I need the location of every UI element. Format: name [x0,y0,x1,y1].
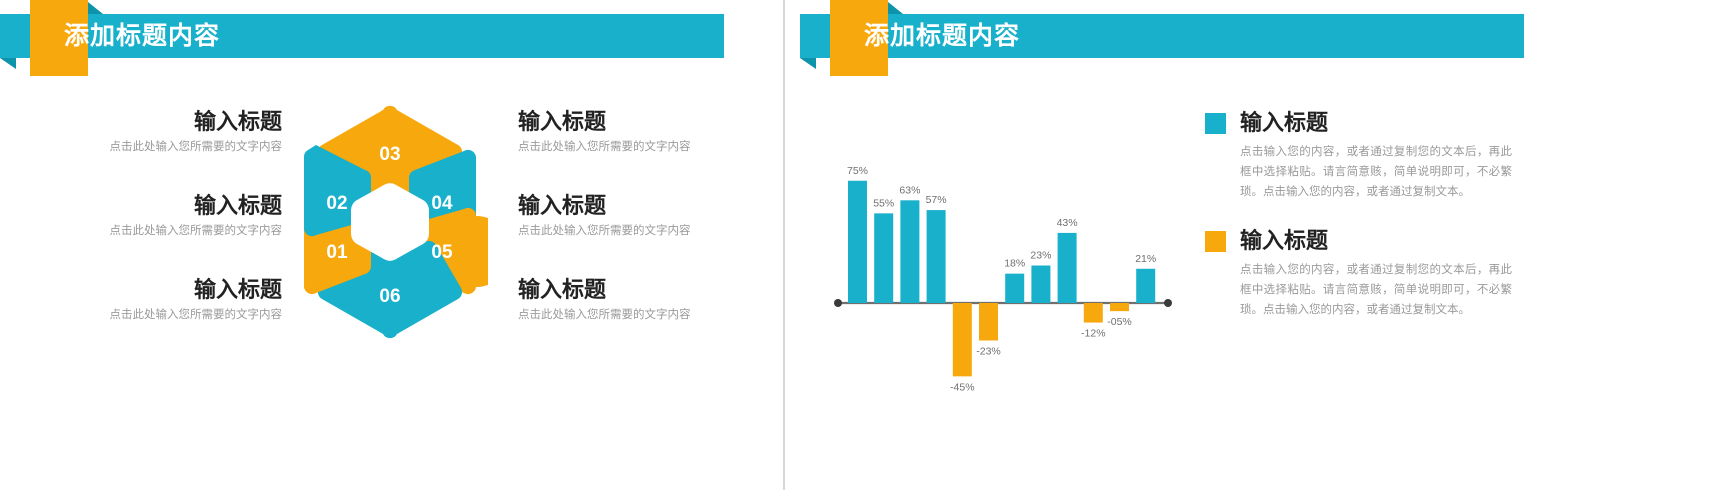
chart-bar-label: -12% [1081,328,1106,340]
chart-axis-dot-start [834,299,842,307]
legend-item-2[interactable]: 输入标题 点击输入您的内容，或者通过复制您的文本后，再此框中选择粘贴。请言简意赅… [1205,228,1545,320]
header-ribbon-left: 添加标题内容 [0,14,780,58]
chart-bar [979,303,998,340]
label-title: 输入标题 [52,192,282,220]
slide-divider [783,0,785,490]
chart-bar [874,213,893,303]
label-desc: 点击此处输入您所需要的文字内容 [518,139,748,156]
label-title: 输入标题 [518,192,748,220]
label-group-left-1[interactable]: 输入标题 点击此处输入您所需要的文字内容 [52,108,282,156]
header-ribbon-right: 添加标题内容 [800,14,1580,58]
label-group-left-3[interactable]: 输入标题 点击此处输入您所需要的文字内容 [52,276,282,324]
ribbon-fold-left-icon [800,58,816,69]
chart-bar-label: 55% [873,197,894,209]
legend-description: 点击输入您的内容，或者通过复制您的文本后，再此框中选择粘贴。请言简意赅，简单说明… [1240,142,1512,202]
chart-bar-label: 43% [1057,217,1078,229]
chart-bar-label: 75% [847,165,868,177]
slide-right: 添加标题内容 75%55%63%57%-45%-23%18%23%43%-12%… [800,0,1580,490]
bar-chart: 75%55%63%57%-45%-23%18%23%43%-12%-05%21% [820,88,1220,408]
chart-bar-label: -45% [950,381,975,393]
chart-bar [1005,274,1024,303]
hexagon-label-05: 05 [431,242,453,263]
ribbon-fold-right-icon [888,2,903,14]
chart-bar [927,210,946,303]
label-desc: 点击此处输入您所需要的文字内容 [52,139,282,156]
hexagon-diagram: 03 04 05 06 01 02 [292,104,488,340]
page-title: 添加标题内容 [864,14,1020,58]
label-group-left-2[interactable]: 输入标题 点击此处输入您所需要的文字内容 [52,192,282,240]
slide-deck: 添加标题内容 输入标题 点击此处输入您所需要的文字内容 输入标题 点击此处输入您… [0,0,1720,490]
label-title: 输入标题 [518,276,748,304]
label-group-right-3[interactable]: 输入标题 点击此处输入您所需要的文字内容 [518,276,748,324]
legend-item-1[interactable]: 输入标题 点击输入您的内容，或者通过复制您的文本后，再此框中选择粘贴。请言简意赅… [1205,110,1545,202]
label-title: 输入标题 [52,108,282,136]
chart-bar [953,303,972,376]
legend-description: 点击输入您的内容，或者通过复制您的文本后，再此框中选择粘贴。请言简意赅，简单说明… [1240,260,1512,320]
legend-title: 输入标题 [1240,110,1328,136]
chart-bar [900,200,919,303]
ribbon-fold-right-icon [88,2,103,14]
chart-bar [1031,266,1050,303]
legend-swatch-teal-icon [1205,113,1226,134]
hexagon-label-02: 02 [326,193,347,214]
chart-bar [848,181,867,303]
chart-bar [1110,303,1129,311]
chart-bar-label: 63% [899,184,920,196]
chart-bar-label: 21% [1135,253,1156,265]
label-desc: 点击此处输入您所需要的文字内容 [52,223,282,240]
legend-title: 输入标题 [1240,228,1328,254]
chart-bar-label: 57% [926,194,947,206]
chart-bar-label: -05% [1107,316,1132,328]
label-title: 输入标题 [518,108,748,136]
label-title: 输入标题 [52,276,282,304]
hexagon-label-03: 03 [379,144,400,165]
hexagon-label-06: 06 [379,286,400,307]
hexagon-label-04: 04 [431,193,453,214]
chart-bar [1084,303,1103,323]
chart-bar [1058,233,1077,303]
label-group-right-2[interactable]: 输入标题 点击此处输入您所需要的文字内容 [518,192,748,240]
chart-legend: 输入标题 点击输入您的内容，或者通过复制您的文本后，再此框中选择粘贴。请言简意赅… [1205,110,1545,346]
chart-axis-dot-end [1164,299,1172,307]
label-group-right-1[interactable]: 输入标题 点击此处输入您所需要的文字内容 [518,108,748,156]
slide-left: 添加标题内容 输入标题 点击此处输入您所需要的文字内容 输入标题 点击此处输入您… [0,0,780,490]
bar-chart-svg: 75%55%63%57%-45%-23%18%23%43%-12%-05%21% [820,88,1200,408]
label-desc: 点击此处输入您所需要的文字内容 [52,307,282,324]
chart-bar-label: 18% [1004,258,1025,270]
hexagon-label-01: 01 [326,242,348,263]
label-desc: 点击此处输入您所需要的文字内容 [518,223,748,240]
label-desc: 点击此处输入您所需要的文字内容 [518,307,748,324]
chart-bar [1136,269,1155,303]
ribbon-fold-left-icon [0,58,16,69]
chart-bar-label: -23% [976,345,1001,357]
legend-swatch-orange-icon [1205,231,1226,252]
page-title: 添加标题内容 [64,14,220,58]
chart-bar-label: 23% [1030,250,1051,262]
